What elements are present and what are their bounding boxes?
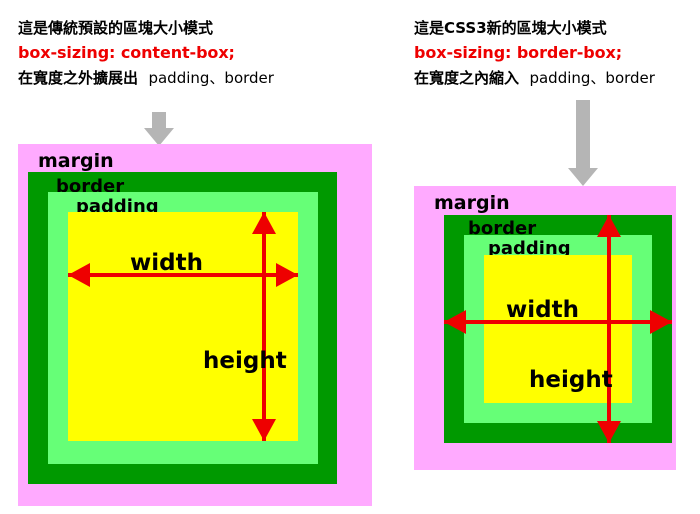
caption-border-box: 這是CSS3新的區塊大小模式 box-sizing: border-box; 在…	[414, 16, 655, 91]
diagram-canvas: 這是傳統預設的區塊大小模式 box-sizing: content-box; 在…	[0, 0, 700, 514]
height-label-border-box: height	[529, 369, 613, 392]
measure-bar	[262, 212, 266, 441]
caption-left-line3-bold: 在寬度之外擴展出	[18, 69, 138, 87]
width-label-border-box: width	[506, 299, 579, 322]
caption-left-line3: 在寬度之外擴展出 padding、border	[18, 66, 274, 90]
measure-arrowhead-left	[68, 263, 90, 287]
height-measure-content-box	[262, 212, 266, 441]
arrow-shaft	[576, 100, 590, 170]
border-box-border-layer: border padding	[444, 215, 672, 443]
height-label-content-box: height	[203, 350, 287, 373]
height-measure-border-box	[607, 215, 611, 443]
label-margin-left: margin	[38, 152, 114, 171]
measure-arrowhead-bottom	[252, 419, 276, 441]
content-box-padding-layer: padding	[48, 192, 318, 464]
border-box-padding-layer: padding	[464, 235, 652, 423]
measure-arrowhead-left	[444, 310, 466, 334]
measure-arrowhead-bottom	[597, 421, 621, 443]
content-box-border-layer: border padding	[28, 172, 337, 484]
content-box-margin-layer: margin border padding width height	[18, 144, 372, 506]
caption-right-line1: 這是CSS3新的區塊大小模式	[414, 16, 655, 40]
caption-left-line3-plain: padding、border	[148, 69, 273, 87]
caption-left-line1: 這是傳統預設的區塊大小模式	[18, 16, 274, 40]
border-box-margin-layer: margin border padding width height	[414, 186, 676, 470]
caption-left-code: box-sizing: content-box;	[18, 40, 274, 66]
caption-content-box: 這是傳統預設的區塊大小模式 box-sizing: content-box; 在…	[18, 16, 274, 91]
arrow-head	[568, 168, 598, 186]
measure-arrowhead-top	[252, 212, 276, 234]
measure-bar	[607, 215, 611, 443]
caption-right-line3: 在寬度之內縮入 padding、border	[414, 66, 655, 90]
width-label-content-box: width	[130, 252, 203, 275]
label-margin-right: margin	[434, 194, 510, 213]
measure-arrowhead-right	[276, 263, 298, 287]
measure-arrowhead-top	[597, 215, 621, 237]
caption-right-line3-plain: padding、border	[529, 69, 654, 87]
caption-right-code: box-sizing: border-box;	[414, 40, 655, 66]
measure-arrowhead-right	[650, 310, 672, 334]
caption-right-line3-bold: 在寬度之內縮入	[414, 69, 519, 87]
